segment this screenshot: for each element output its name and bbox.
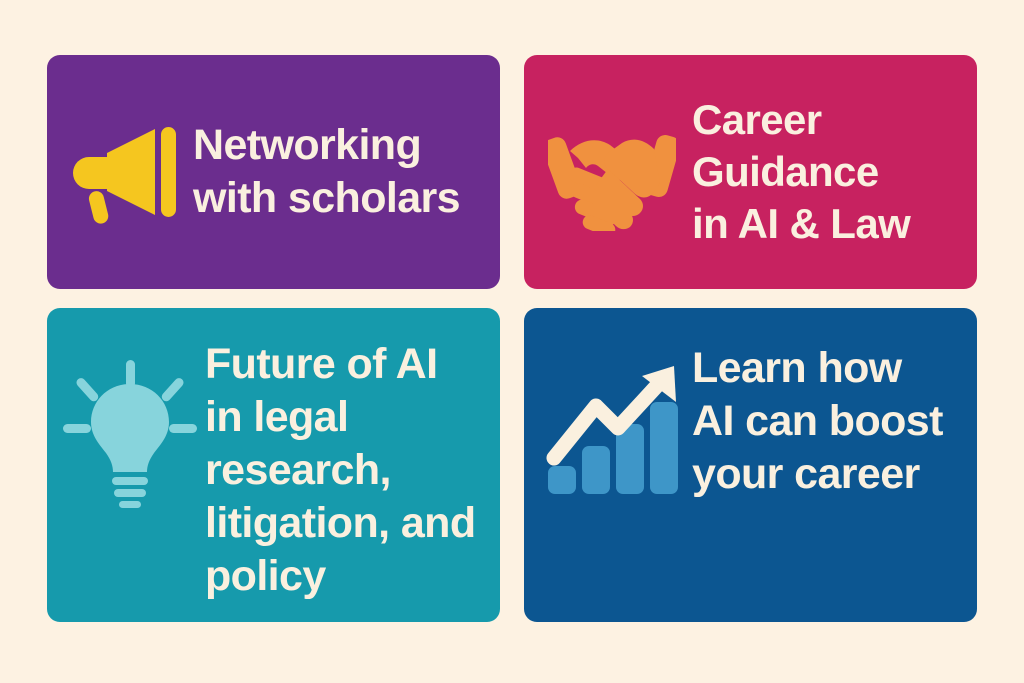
card-grid: Networking with scholars [47, 55, 977, 622]
growth-chart-icon [546, 358, 680, 494]
handshake-icon [548, 113, 676, 231]
card-future-of-ai[interactable]: Future of AI in legal research, litigati… [47, 308, 500, 622]
megaphone-icon [69, 113, 187, 231]
card-career-guidance-title: Career Guidance in AI & Law [692, 94, 963, 250]
lightbulb-icon [63, 358, 197, 508]
highlight-board: Networking with scholars [0, 0, 1024, 683]
card-boost-career-title: Learn how AI can boost your career [692, 342, 967, 501]
card-future-of-ai-title: Future of AI in legal research, litigati… [205, 338, 490, 603]
card-networking[interactable]: Networking with scholars [47, 55, 500, 289]
card-boost-career[interactable]: Learn how AI can boost your career [524, 308, 977, 622]
card-career-guidance[interactable]: Career Guidance in AI & Law [524, 55, 977, 289]
card-networking-title: Networking with scholars [193, 119, 486, 225]
